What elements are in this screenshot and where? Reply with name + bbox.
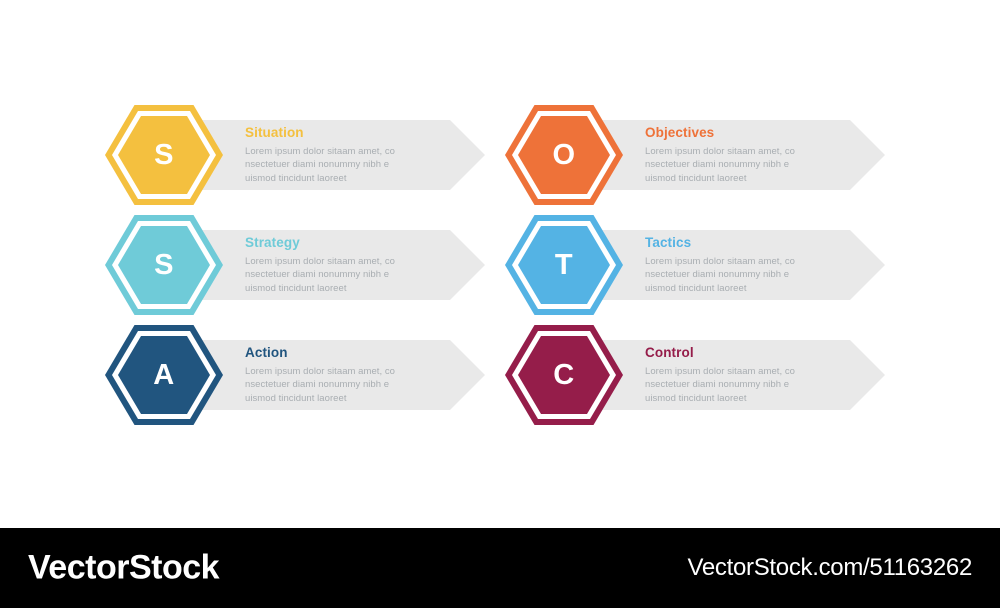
item-title: Objectives <box>645 125 825 141</box>
vectorstock-url: VectorStock.com/51163262 <box>687 554 972 582</box>
infographic-item-objectives[interactable]: O Objectives Lorem ipsum dolor sitaam am… <box>505 95 905 215</box>
vectorstock-logo: VectorStock <box>28 549 219 588</box>
item-description: Lorem ipsum dolor sitaam amet, co nsecte… <box>245 365 425 406</box>
watermark-bar: VectorStock VectorStock.com/51163262 <box>0 528 1000 608</box>
hexagon-letter: T <box>518 226 610 304</box>
hexagon-badge-control: C <box>505 315 623 435</box>
item-text-block: Strategy Lorem ipsum dolor sitaam amet, … <box>245 235 425 296</box>
hexagon-letter: S <box>118 226 210 304</box>
infographic-item-control[interactable]: C Control Lorem ipsum dolor sitaam amet,… <box>505 315 905 435</box>
infographic-item-tactics[interactable]: T Tactics Lorem ipsum dolor sitaam amet,… <box>505 205 905 325</box>
infographic-item-strategy[interactable]: S Strategy Lorem ipsum dolor sitaam amet… <box>105 205 505 325</box>
item-text-block: Action Lorem ipsum dolor sitaam amet, co… <box>245 345 425 406</box>
infographic-item-action[interactable]: A Action Lorem ipsum dolor sitaam amet, … <box>105 315 505 435</box>
item-title: Situation <box>245 125 425 141</box>
hexagon-badge-tactics: T <box>505 205 623 325</box>
item-description: Lorem ipsum dolor sitaam amet, co nsecte… <box>245 255 425 296</box>
item-text-block: Tactics Lorem ipsum dolor sitaam amet, c… <box>645 235 825 296</box>
item-title: Control <box>645 345 825 361</box>
item-description: Lorem ipsum dolor sitaam amet, co nsecte… <box>645 145 825 186</box>
hexagon-badge-strategy: S <box>105 205 223 325</box>
hexagon-letter: S <box>118 116 210 194</box>
item-text-block: Situation Lorem ipsum dolor sitaam amet,… <box>245 125 425 186</box>
item-description: Lorem ipsum dolor sitaam amet, co nsecte… <box>245 145 425 186</box>
infographic-item-situation[interactable]: S Situation Lorem ipsum dolor sitaam ame… <box>105 95 505 215</box>
infographic-board: S Situation Lorem ipsum dolor sitaam ame… <box>0 0 1000 528</box>
item-text-block: Objectives Lorem ipsum dolor sitaam amet… <box>645 125 825 186</box>
item-title: Tactics <box>645 235 825 251</box>
infographic-canvas: S Situation Lorem ipsum dolor sitaam ame… <box>0 0 1000 608</box>
hexagon-letter: A <box>118 336 210 414</box>
hexagon-letter: C <box>518 336 610 414</box>
item-title: Strategy <box>245 235 425 251</box>
item-text-block: Control Lorem ipsum dolor sitaam amet, c… <box>645 345 825 406</box>
item-description: Lorem ipsum dolor sitaam amet, co nsecte… <box>645 255 825 296</box>
hexagon-badge-objectives: O <box>505 95 623 215</box>
item-title: Action <box>245 345 425 361</box>
hexagon-badge-action: A <box>105 315 223 435</box>
hexagon-badge-situation: S <box>105 95 223 215</box>
hexagon-letter: O <box>518 116 610 194</box>
item-description: Lorem ipsum dolor sitaam amet, co nsecte… <box>645 365 825 406</box>
